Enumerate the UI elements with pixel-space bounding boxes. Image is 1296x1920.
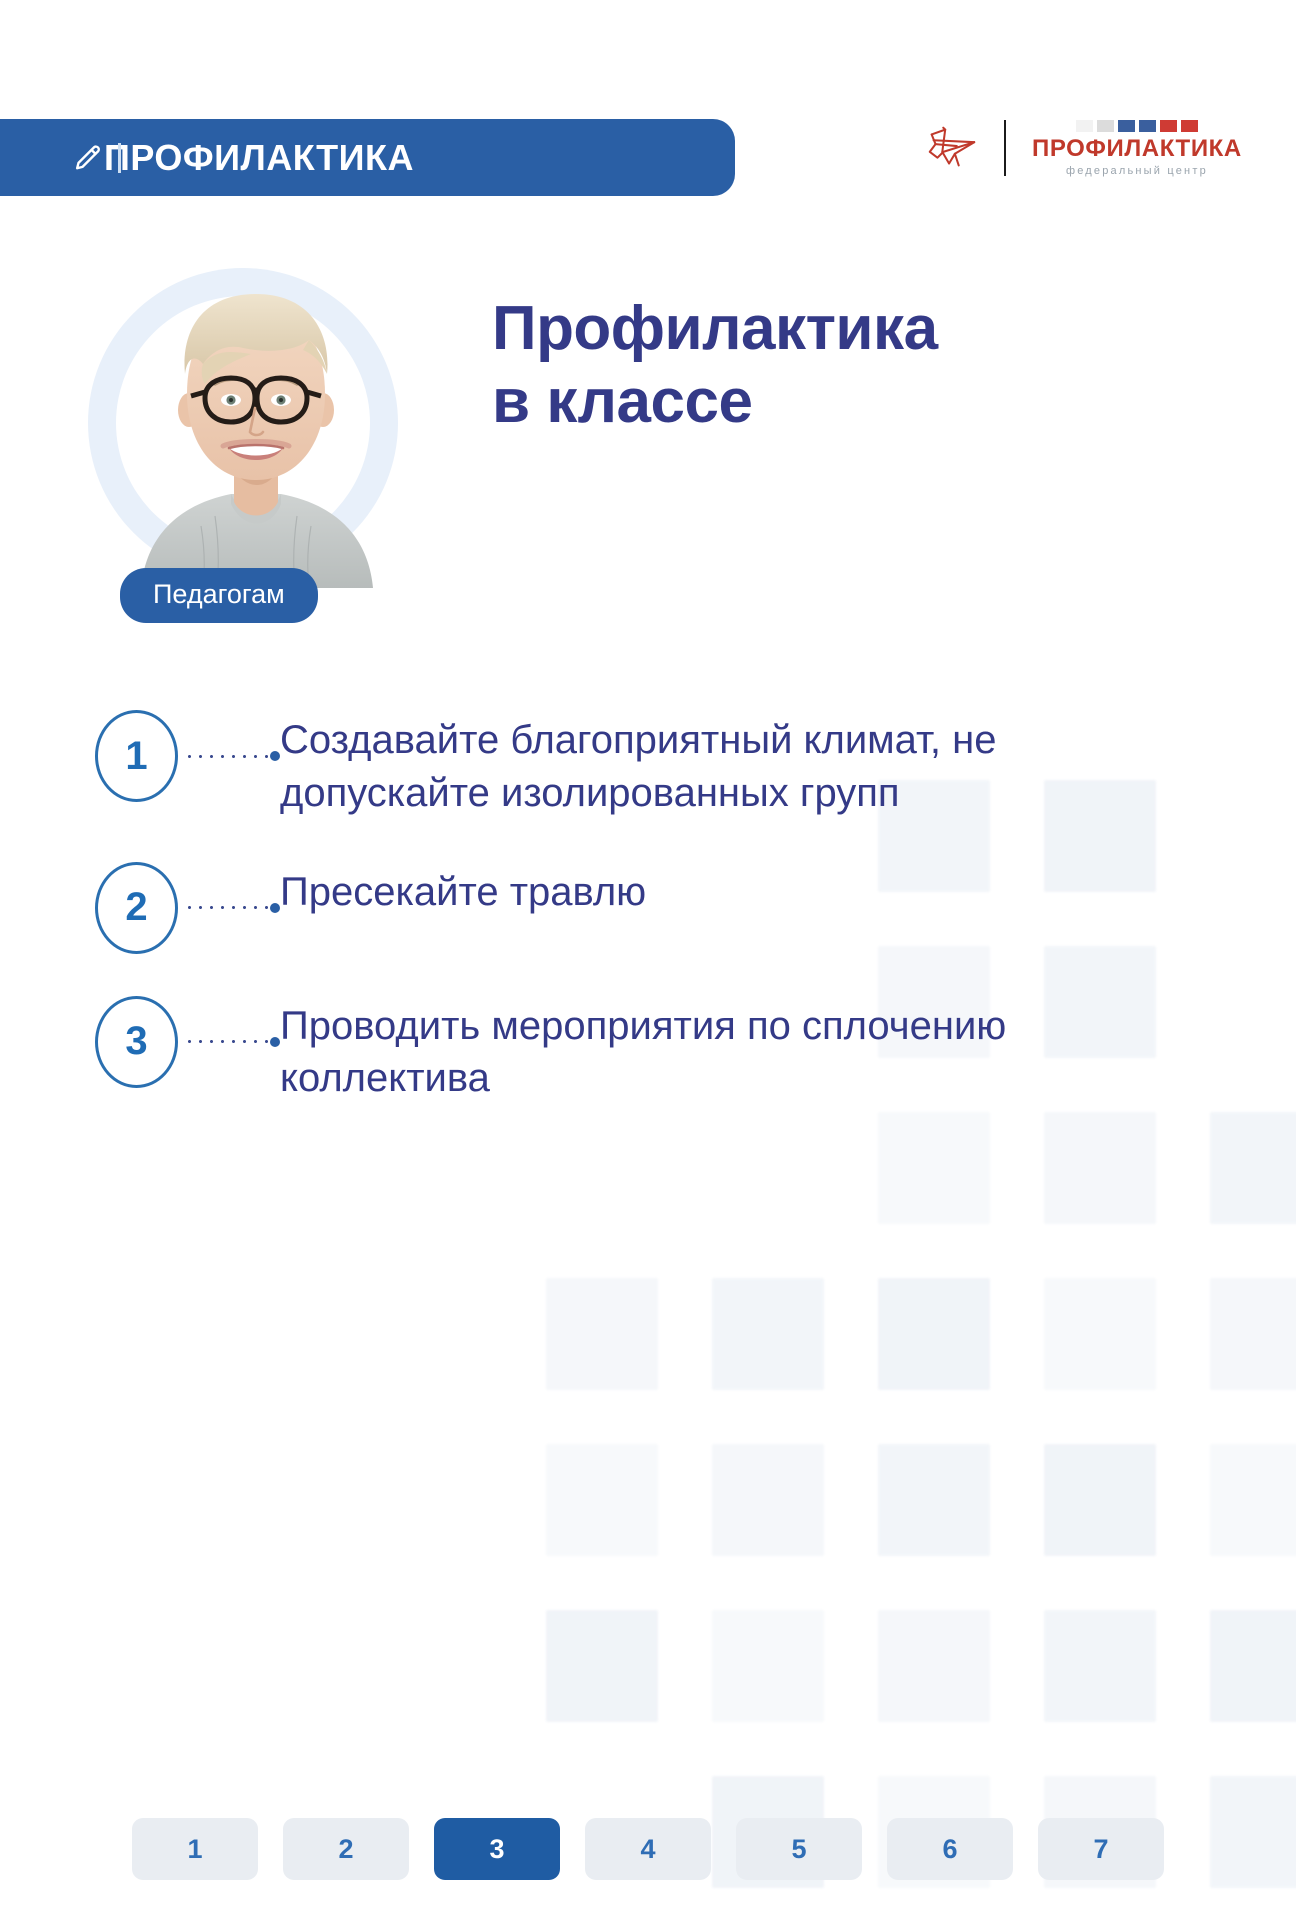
logo-swatch xyxy=(1160,120,1177,132)
portrait-container xyxy=(88,268,398,578)
tip-connector xyxy=(184,904,280,912)
pagination-page-4[interactable]: 4 xyxy=(585,1818,711,1880)
page-title: Профилактика в классе xyxy=(492,292,938,438)
tip-number-badge: 2 xyxy=(95,862,178,954)
logo-divider xyxy=(1004,120,1006,176)
background-square xyxy=(712,1610,824,1722)
pencil-icon xyxy=(72,143,102,173)
background-square xyxy=(1044,1444,1156,1556)
tip-number-badge: 3 xyxy=(95,996,178,1088)
background-square xyxy=(1210,1444,1296,1556)
tip-dotted-line xyxy=(184,906,270,909)
header-banner: ПРОФИЛАКТИКА xyxy=(0,119,735,196)
tip-end-dot xyxy=(270,751,280,761)
pagination-page-1[interactable]: 1 xyxy=(132,1818,258,1880)
background-square xyxy=(1044,1278,1156,1390)
audience-badge: Педагогам xyxy=(120,568,318,623)
list-item: 3 Проводить мероприятия по сплочению кол… xyxy=(0,996,1296,1106)
header-divider xyxy=(118,143,121,173)
tip-marker: 1 xyxy=(95,710,280,802)
header-title: ПРОФИЛАКТИКА xyxy=(104,140,414,176)
avatar xyxy=(131,258,381,588)
pagination-page-2[interactable]: 2 xyxy=(283,1818,409,1880)
pagination-page-6[interactable]: 6 xyxy=(887,1818,1013,1880)
tip-text: Проводить мероприятия по сплочению колле… xyxy=(280,996,1070,1106)
logo-swatch xyxy=(1076,120,1093,132)
background-square xyxy=(546,1278,658,1390)
pagination-page-3[interactable]: 3 xyxy=(434,1818,560,1880)
logo-swatch xyxy=(1181,120,1198,132)
tip-text: Создавайте благоприятный климат, не допу… xyxy=(280,710,1070,820)
background-square xyxy=(878,1610,990,1722)
tip-marker: 3 xyxy=(95,996,280,1088)
background-square xyxy=(712,1444,824,1556)
pagination-page-7[interactable]: 7 xyxy=(1038,1818,1164,1880)
logo-swatches xyxy=(1076,120,1198,132)
background-square xyxy=(1210,1610,1296,1722)
tip-number-badge: 1 xyxy=(95,710,178,802)
hero-section: Педагогам Профилактика в классе xyxy=(0,250,1296,670)
background-square xyxy=(1044,1610,1156,1722)
tip-connector xyxy=(184,752,280,760)
page-title-line-2: в классе xyxy=(492,365,938,438)
pagination-page-5[interactable]: 5 xyxy=(736,1818,862,1880)
background-square xyxy=(546,1444,658,1556)
background-square xyxy=(878,1278,990,1390)
page-title-line-1: Профилактика xyxy=(492,292,938,365)
brand-logo: ПРОФИЛАКТИКА федеральный центр xyxy=(920,112,1296,184)
tip-connector xyxy=(184,1038,280,1046)
tips-list: 1 Создавайте благоприятный климат, не до… xyxy=(0,710,1296,1147)
logo-wordmark: ПРОФИЛАКТИКА xyxy=(1032,137,1242,161)
background-square xyxy=(712,1278,824,1390)
logo-swatch xyxy=(1118,120,1135,132)
background-square xyxy=(878,1444,990,1556)
logo-swatch xyxy=(1097,120,1114,132)
pagination: 1 2 3 4 5 6 7 xyxy=(0,1818,1296,1880)
tip-dotted-line xyxy=(184,755,270,758)
tip-end-dot xyxy=(270,903,280,913)
logo-subtitle: федеральный центр xyxy=(1066,166,1208,177)
background-square xyxy=(1210,1278,1296,1390)
tip-marker: 2 xyxy=(95,862,280,954)
logo-text-block: ПРОФИЛАКТИКА федеральный центр xyxy=(1032,120,1242,177)
tip-text: Пресекайте травлю xyxy=(280,862,646,919)
logo-swatch xyxy=(1139,120,1156,132)
list-item: 1 Создавайте благоприятный климат, не до… xyxy=(0,710,1296,820)
list-item: 2 Пресекайте травлю xyxy=(0,862,1296,954)
chair-line-icon xyxy=(920,119,982,177)
tip-dotted-line xyxy=(184,1040,270,1043)
background-square xyxy=(546,1610,658,1722)
tip-end-dot xyxy=(270,1037,280,1047)
